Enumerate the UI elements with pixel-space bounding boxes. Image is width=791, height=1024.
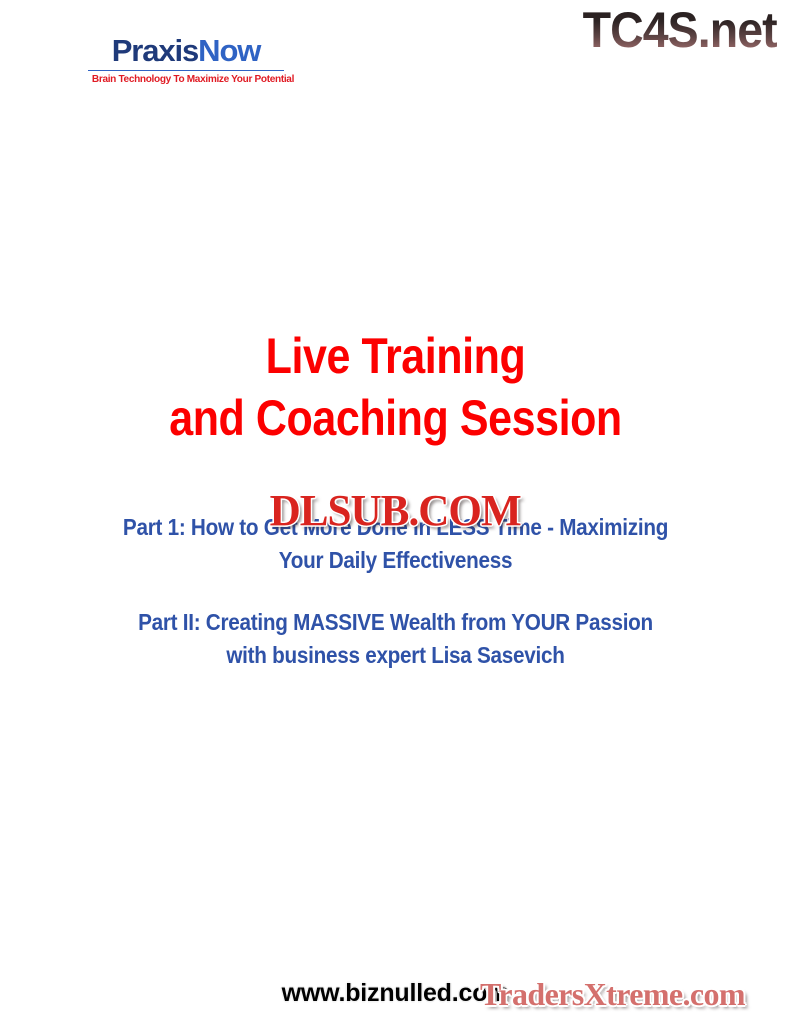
tc4s-watermark: TC4S.net — [583, 2, 777, 58]
part-1-description: Part 1: How to Get More Done in LESS Tim… — [40, 511, 752, 577]
part-1-line-1: Part 1: How to Get More Done in LESS Tim… — [40, 511, 752, 544]
logo-divider-rule — [88, 70, 284, 71]
logo-word-now: Now — [198, 33, 260, 68]
part-2-line-2: with business expert Lisa Sasevich — [40, 639, 752, 672]
page-title: Live Training and Coaching Session — [55, 325, 735, 449]
page-title-line-1: Live Training — [55, 325, 735, 387]
logo-wordmark: PraxisNow — [88, 34, 284, 67]
part-2-description: Part II: Creating MASSIVE Wealth from YO… — [40, 606, 752, 672]
tradersxtreme-watermark: TradersXtreme.com — [480, 974, 745, 1014]
page-title-line-2: and Coaching Session — [55, 387, 735, 449]
logo-word-praxis: Praxis — [112, 33, 198, 68]
part-2-line-1: Part II: Creating MASSIVE Wealth from YO… — [40, 606, 752, 639]
logo-tagline: Brain Technology To Maximize Your Potent… — [92, 73, 280, 86]
document-page: TC4S.net PraxisNow Brain Technology To M… — [0, 0, 791, 1024]
part-1-line-2: Your Daily Effectiveness — [40, 544, 752, 577]
praxisnow-logo: PraxisNow Brain Technology To Maximize Y… — [88, 34, 284, 86]
